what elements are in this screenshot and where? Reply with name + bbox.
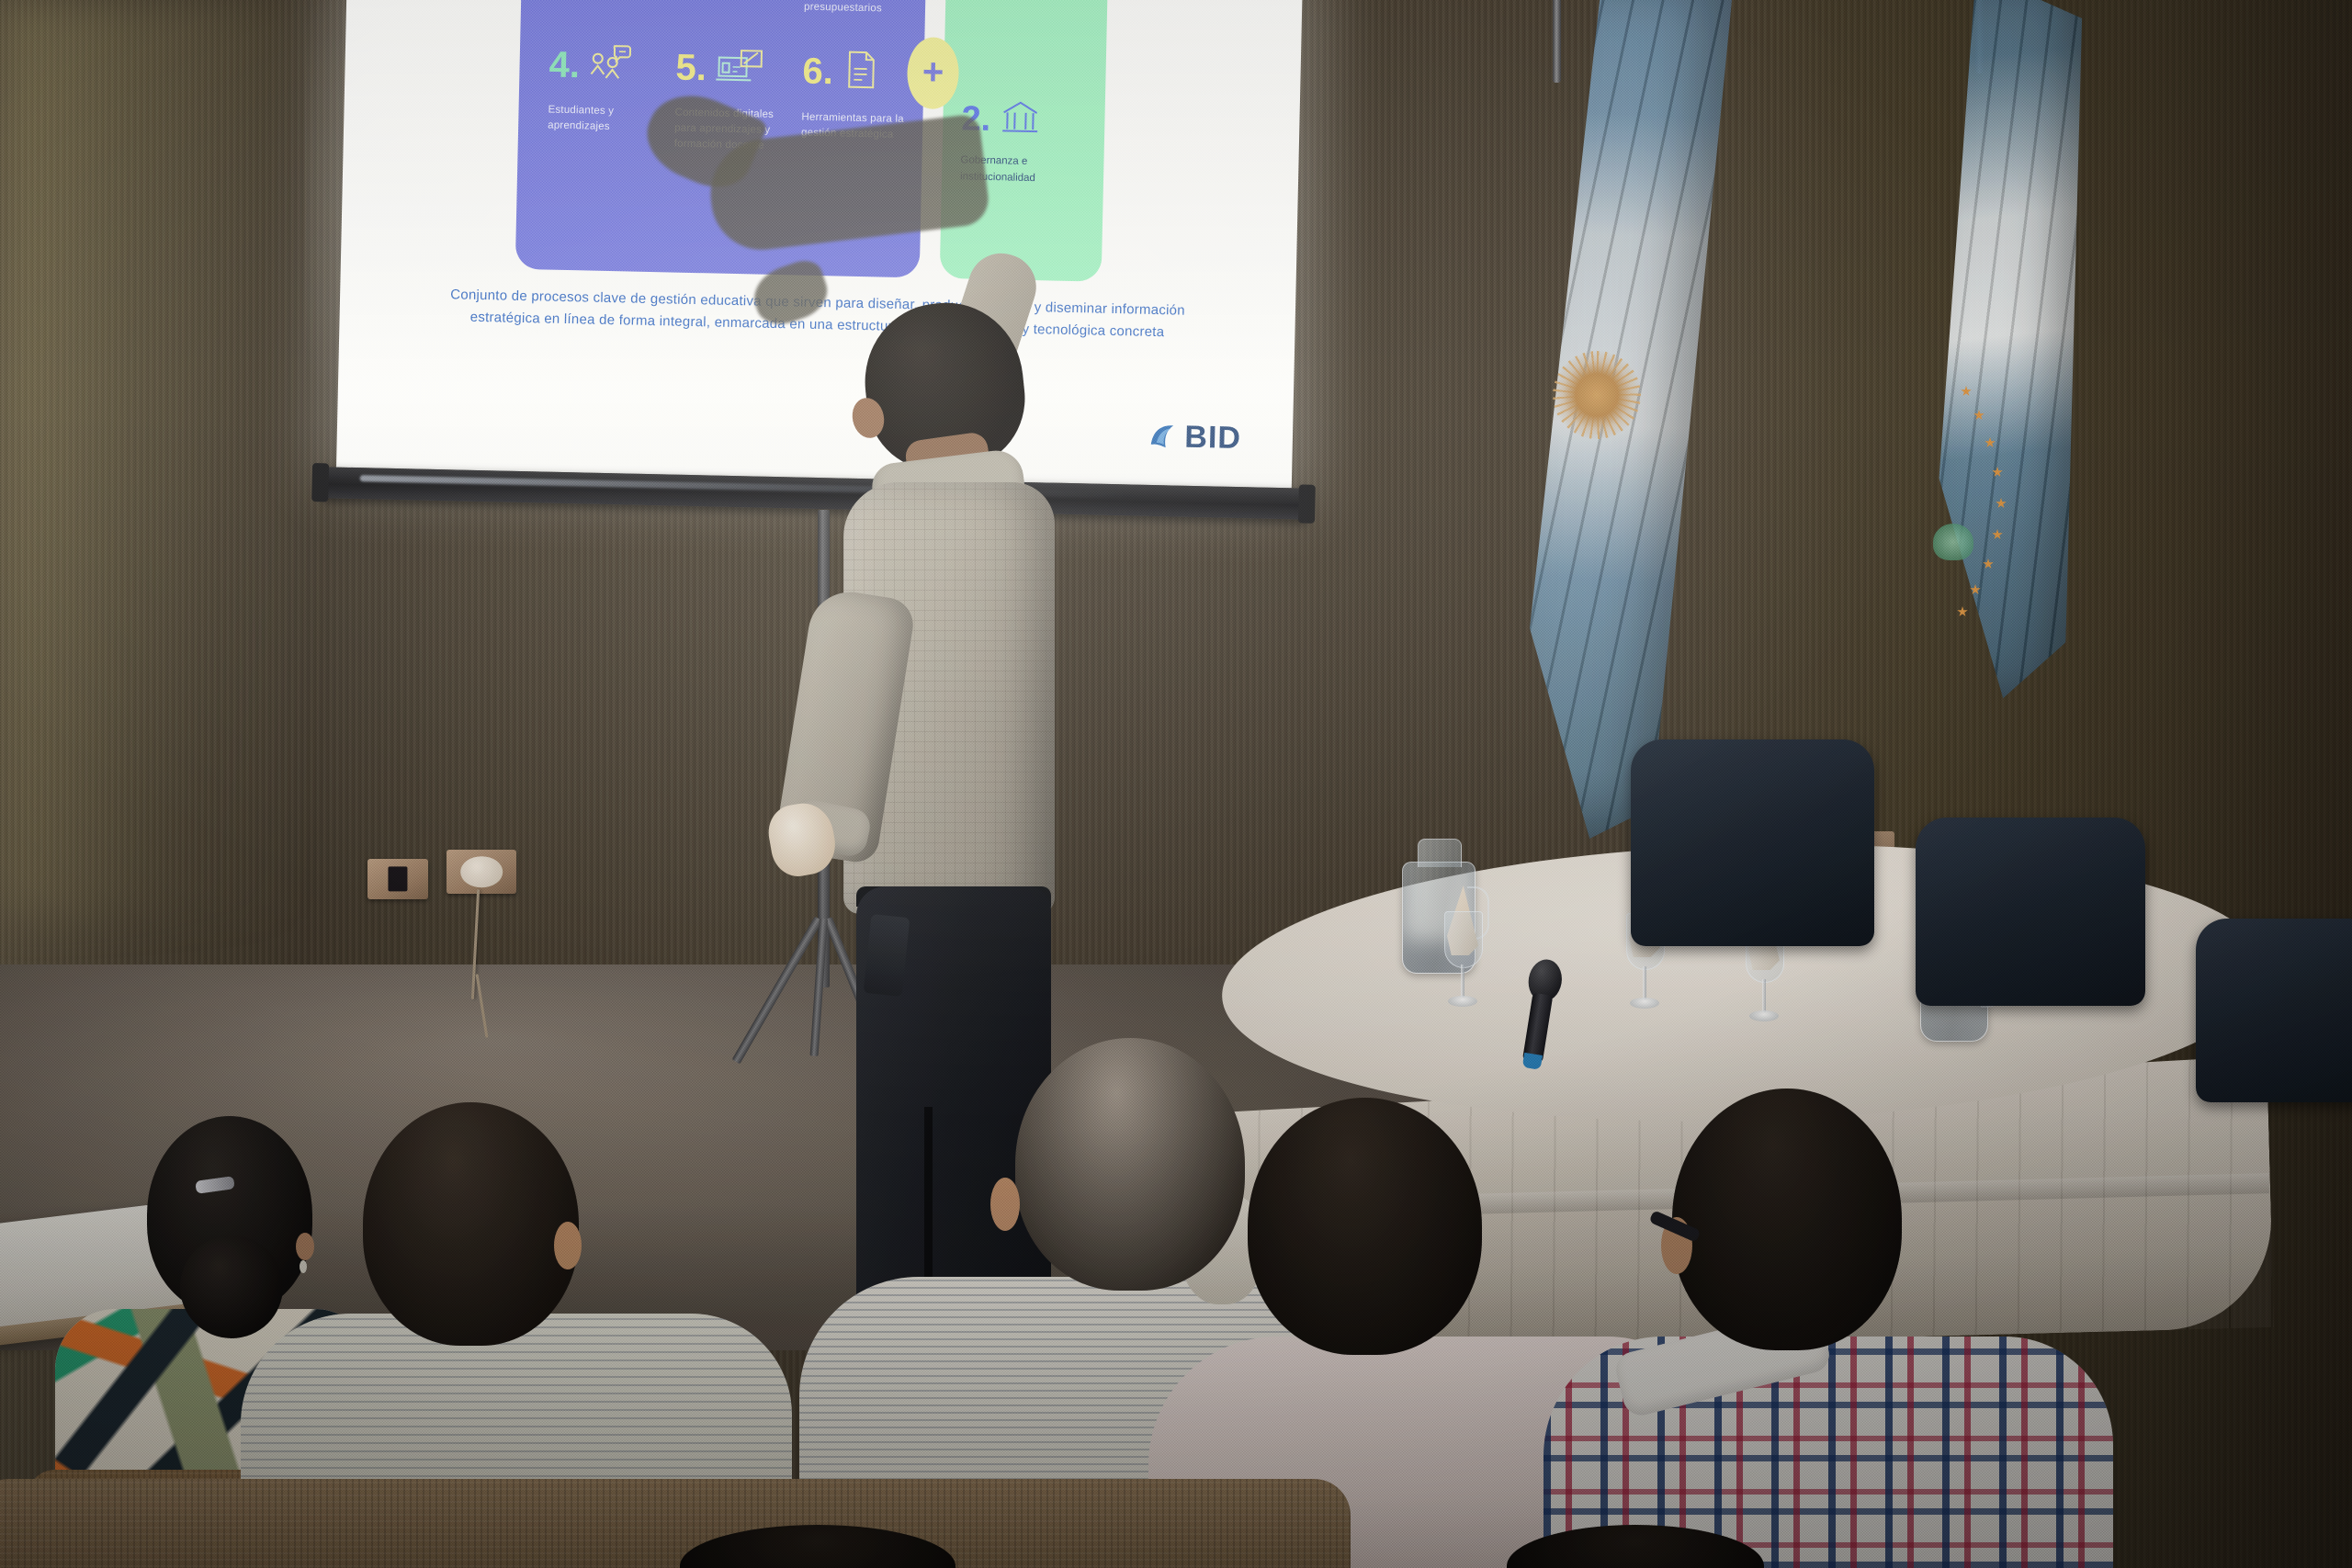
conference-room-scene: + 1. bbox=[0, 0, 2352, 1568]
scene-vignette bbox=[0, 0, 2352, 1568]
